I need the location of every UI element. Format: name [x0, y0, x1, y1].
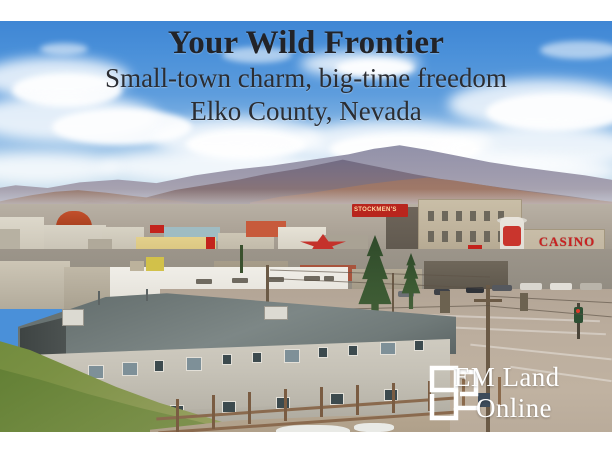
cowboy-shirt	[503, 226, 521, 246]
casino-sign-text: CASINO	[530, 235, 604, 248]
bottom-white-margin	[0, 432, 612, 459]
top-white-margin	[0, 0, 612, 21]
stockmens-sign-text: STOCKMEN'S	[354, 207, 397, 213]
utility-pole-main	[486, 285, 490, 432]
roof-pipe	[98, 291, 100, 305]
bare-tree-left	[240, 245, 243, 273]
utility-pole-crossarm	[474, 299, 502, 302]
banner-photograph: STOCKMEN'S MOTEL MOTEL CASINO	[0, 21, 612, 432]
listing-banner: STOCKMEN'S MOTEL MOTEL CASINO	[0, 0, 612, 459]
roof-vent-unit-2	[264, 306, 288, 320]
snow-patch-2	[354, 423, 394, 432]
small-red-sign-a	[150, 225, 164, 233]
roof-antenna	[146, 289, 148, 301]
roof-vent-unit	[62, 309, 84, 326]
snow-patch	[276, 425, 350, 432]
trash-bin	[478, 393, 490, 407]
